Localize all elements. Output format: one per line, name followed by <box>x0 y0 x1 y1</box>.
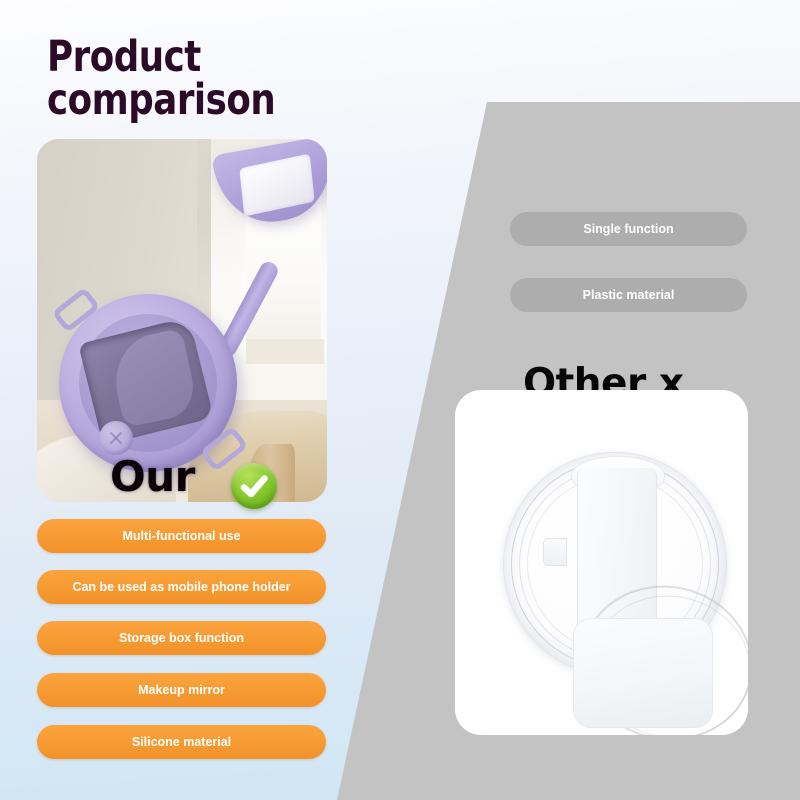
photo-window-sill <box>246 339 324 364</box>
our-product-photo: 1 2 <box>37 139 327 502</box>
green-check-icon <box>231 463 277 509</box>
our-feature-pill-3[interactable]: Storage box function <box>37 621 326 655</box>
other-feature-pill-1[interactable]: Single function <box>510 212 747 246</box>
our-feature-pill-1[interactable]: Multi-functional use <box>37 519 326 553</box>
page-title: Product comparison <box>47 36 351 121</box>
other-feature-pill-2[interactable]: Plastic material <box>510 278 747 312</box>
other-product-photo <box>455 390 748 735</box>
product-lid-drink-plug <box>99 421 133 455</box>
competitor-lid-lower-body <box>573 618 713 728</box>
our-label: Our <box>110 452 195 501</box>
our-feature-pill-2[interactable]: Can be used as mobile phone holder <box>37 570 326 604</box>
competitor-lid-side-tab <box>543 538 567 566</box>
our-feature-pill-5[interactable]: Silicone material <box>37 725 326 759</box>
infographic-canvas: Product comparison 1 2 Our Multi-functio… <box>0 0 800 800</box>
our-feature-pill-4[interactable]: Makeup mirror <box>37 673 326 707</box>
